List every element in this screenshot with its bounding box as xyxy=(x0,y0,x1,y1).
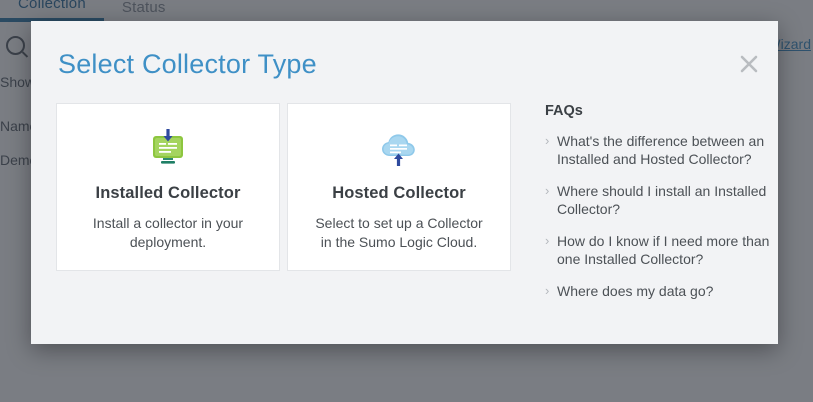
faq-item-label: Where should I install an Installed Coll… xyxy=(557,182,795,218)
faq-item[interactable]: › What's the difference between an Insta… xyxy=(545,132,795,168)
installed-collector-description: Install a collector in your deployment. xyxy=(78,214,258,252)
page-title: Select Collector Type xyxy=(58,49,317,80)
installed-collector-title: Installed Collector xyxy=(96,184,241,203)
chevron-right-icon: › xyxy=(545,282,557,300)
chevron-right-icon: › xyxy=(545,132,557,150)
hosted-collector-description: Select to set up a Collector in the Sumo… xyxy=(309,214,489,252)
faq-item-label: How do I know if I need more than one In… xyxy=(557,232,795,268)
screen: Collection Status Search Setup Wizard Sh… xyxy=(0,0,813,402)
cloud-upload-icon xyxy=(375,128,423,170)
close-icon[interactable] xyxy=(738,53,760,75)
installed-collector-card[interactable]: Installed Collector Install a collector … xyxy=(56,103,280,271)
collector-type-cards: Installed Collector Install a collector … xyxy=(56,103,511,271)
faq-item-label: Where does my data go? xyxy=(557,282,713,300)
hosted-collector-card[interactable]: Hosted Collector Select to set up a Coll… xyxy=(287,103,511,271)
faq-item[interactable]: › Where should I install an Installed Co… xyxy=(545,182,795,218)
faq-item-label: What's the difference between an Install… xyxy=(557,132,795,168)
faq-item[interactable]: › How do I know if I need more than one … xyxy=(545,232,795,268)
chevron-right-icon: › xyxy=(545,232,557,250)
chevron-right-icon: › xyxy=(545,182,557,200)
monitor-download-icon xyxy=(144,128,192,170)
modal-body: Installed Collector Install a collector … xyxy=(56,103,758,314)
hosted-collector-title: Hosted Collector xyxy=(332,184,466,203)
faq-item[interactable]: › Where does my data go? xyxy=(545,282,795,300)
faqs-panel: FAQs › What's the difference between an … xyxy=(545,103,795,314)
select-collector-type-dialog: Select Collector Type xyxy=(31,21,778,344)
faqs-heading: FAQs xyxy=(545,103,795,119)
